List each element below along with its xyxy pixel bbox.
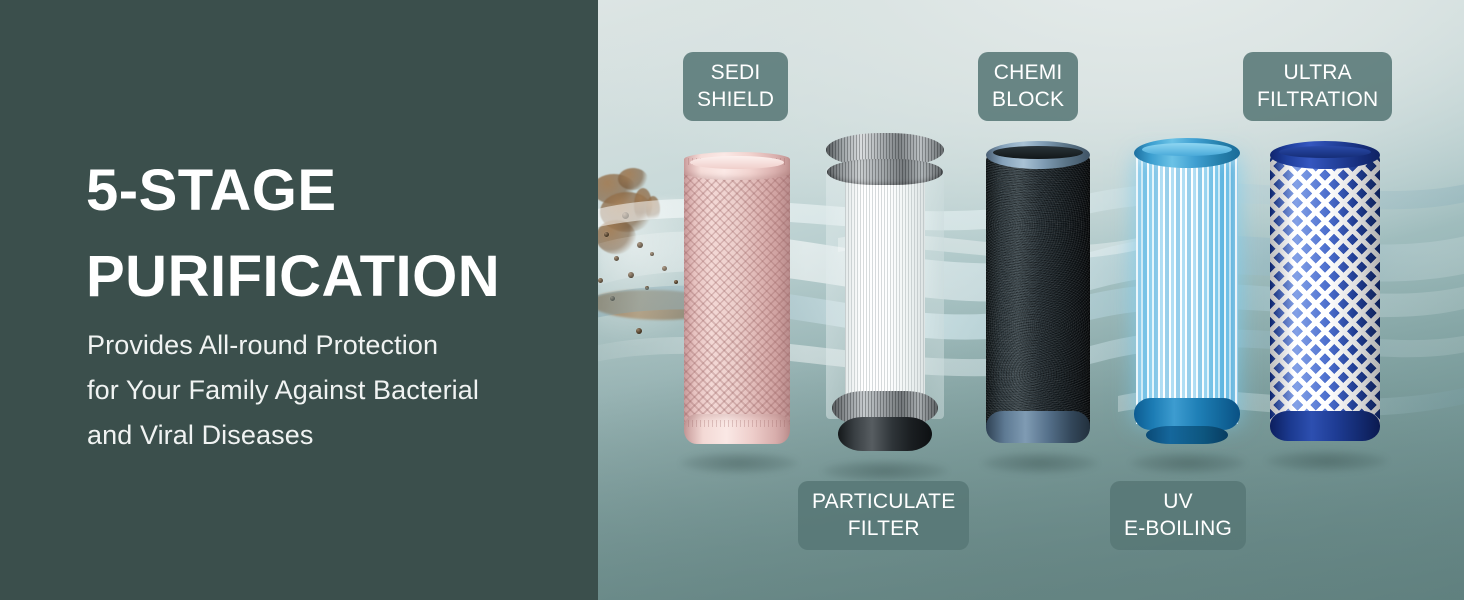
uv-base-foot [1146,426,1228,444]
uv-lamp-body [1136,156,1238,424]
headline-panel: 5-STAGE PURIFICATION Provides All-round … [0,0,598,600]
cartridge-ultra-filtration [1270,141,1380,441]
badge-ultra-filtration: ULTRA FILTRATION [1243,52,1392,121]
badge-ultra-filtration-line-1: ULTRA [1257,59,1378,86]
subheadline: Provides All-round Protection for Your F… [87,323,577,458]
pink-top-cap [684,152,790,180]
cartridge-chemi-block [986,141,1090,443]
badge-sedi-shield: SEDI SHIELD [683,52,788,121]
badge-chemi-block: CHEMI BLOCK [978,52,1078,121]
badge-particulate-filter: PARTICULATE FILTER [798,481,969,550]
cartridge-particulate-filter [826,133,944,453]
subheadline-line-2: for Your Family Against Bacterial [87,368,577,413]
cartridge-uv-eboiling [1134,138,1240,444]
headline-line-1: 5-STAGE [86,148,337,234]
uf-bottom-cap [1270,411,1380,441]
carbon-block-body [986,157,1090,429]
badge-uv-eboiling: UV E-BOILING [1110,481,1246,550]
badge-sedi-shield-line-1: SEDI [697,59,774,86]
uf-top-cap [1270,141,1380,169]
badge-chemi-block-line-2: BLOCK [992,86,1064,113]
blue-diamond-mesh-body [1270,157,1380,427]
pink-bottom-cap [684,414,790,444]
white-pleated-media [845,171,925,421]
badge-particulate-filter-line-1: PARTICULATE [812,488,955,515]
product-banner: 5-STAGE PURIFICATION Provides All-round … [0,0,1464,600]
carbon-bottom-cap [986,411,1090,443]
badge-sedi-shield-line-2: SHIELD [697,86,774,113]
pink-mesh-body [684,166,790,430]
headline-line-2: PURIFICATION [86,234,500,320]
carbon-top-cap [986,141,1090,169]
badge-uv-eboiling-line-2: E-BOILING [1124,515,1232,542]
badge-ultra-filtration-line-2: FILTRATION [1257,86,1378,113]
badge-uv-eboiling-line-1: UV [1124,488,1232,515]
black-base-foot [838,417,932,451]
badge-particulate-filter-line-2: FILTER [812,515,955,542]
subheadline-line-1: Provides All-round Protection [87,323,577,368]
badge-chemi-block-line-1: CHEMI [992,59,1064,86]
metal-top-collar [827,159,943,185]
subheadline-line-3: and Viral Diseases [87,413,577,458]
cartridge-sedi-shield [684,152,790,444]
uv-top-cap [1134,138,1240,168]
